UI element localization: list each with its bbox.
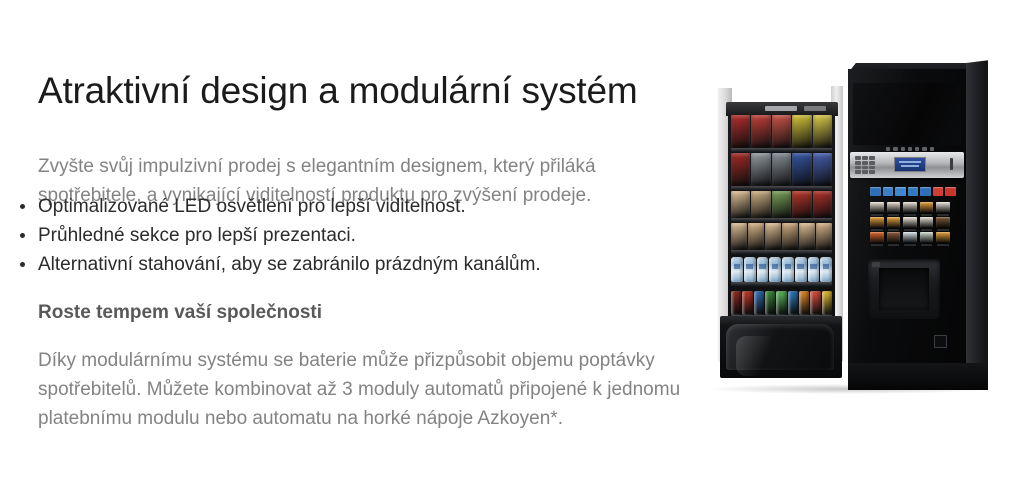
vending-machines-photo (700, 50, 1010, 410)
machine-lower-cabinet (720, 316, 842, 378)
drink-selection-button[interactable] (870, 217, 884, 228)
drink-selection-button[interactable] (920, 232, 934, 243)
product-pack (748, 223, 764, 250)
cup-dispenser-recess (868, 259, 940, 319)
dispenser-opening (879, 268, 929, 310)
shelf-goods (731, 223, 832, 250)
product-can (799, 291, 809, 315)
product-bottle (795, 257, 807, 282)
upper-black-panel (853, 83, 961, 145)
delivery-bin-door (726, 324, 834, 370)
product-pack (792, 153, 811, 186)
control-panel (850, 152, 964, 178)
numeric-keypad[interactable] (855, 156, 875, 174)
glass-display-window (728, 115, 835, 320)
product-bottle (769, 257, 781, 282)
product-pack (731, 153, 750, 186)
product-bottle (744, 257, 756, 282)
drink-selection-button[interactable] (887, 202, 901, 213)
body-paragraph: Díky modulárnímu systému se baterie může… (38, 346, 683, 433)
floor-shadow (708, 384, 988, 394)
drink-selection-button[interactable] (870, 202, 884, 213)
list-item: Průhledné sekce pro lepší prezentaci. (0, 221, 660, 250)
list-item: Alternativní stahování, aby se zabránilo… (0, 250, 660, 279)
panel-vent-strip (886, 147, 934, 151)
product-pack (731, 191, 750, 218)
product-can (754, 291, 764, 315)
product-pack (772, 115, 791, 148)
product-pack (731, 115, 750, 148)
hot-drinks-vending-machine (848, 63, 990, 390)
shelf-goods (731, 191, 832, 218)
brand-model-mark (804, 106, 826, 111)
product-can (788, 291, 798, 315)
bullet-dot-icon (20, 233, 25, 238)
product-bottle (757, 257, 769, 282)
product-pack (731, 223, 747, 250)
product-bottle (808, 257, 820, 282)
product-bottle (731, 257, 743, 282)
top-selection-button-strip[interactable] (870, 187, 956, 196)
drink-selection-button[interactable] (920, 202, 934, 213)
product-pack (751, 153, 770, 186)
shelf-snacks-top (731, 115, 832, 153)
page-title: Atraktivní design a modulární systém (38, 69, 637, 113)
drink-selection-button[interactable] (903, 202, 917, 213)
product-pack (751, 115, 770, 148)
coin-slot[interactable] (950, 158, 953, 170)
bullet-dot-icon (20, 204, 25, 209)
drink-selection-button[interactable] (887, 217, 901, 228)
snack-vending-machine (718, 78, 848, 388)
section-subheading: Roste tempem vaší společnosti (38, 298, 322, 327)
product-can (731, 291, 741, 315)
product-pack (813, 191, 832, 218)
product-pack (772, 191, 791, 218)
product-pack (799, 223, 815, 250)
machine-front-face (848, 69, 966, 387)
product-pack (751, 191, 770, 218)
shelf-sandwiches (731, 191, 832, 223)
product-bottle (782, 257, 794, 282)
product-pack (816, 223, 832, 250)
product-can (810, 291, 820, 315)
product-pack (792, 115, 811, 148)
product-can (822, 291, 832, 315)
drink-selection-button[interactable] (903, 217, 917, 228)
list-item-label: Optimalizované LED osvětlení pro lepší v… (38, 196, 466, 217)
drink-selection-button[interactable] (887, 232, 901, 243)
product-pack (813, 153, 832, 186)
product-pack (782, 223, 798, 250)
brand-logo (765, 106, 797, 111)
shelf-goods (731, 115, 832, 148)
list-item-label: Průhledné sekce pro lepší prezentaci. (38, 225, 356, 246)
drink-selection-button[interactable] (903, 232, 917, 243)
card-reader[interactable] (934, 335, 947, 348)
drink-selection-button[interactable] (936, 202, 950, 213)
drink-selection-button[interactable] (920, 217, 934, 228)
shelf-baguettes (731, 223, 832, 255)
drink-selection-button[interactable] (936, 217, 950, 228)
shelf-goods (731, 287, 832, 315)
list-item: Optimalizované LED osvětlení pro lepší v… (0, 192, 660, 221)
gloss-highlight (736, 336, 776, 376)
feature-bullet-list: Optimalizované LED osvětlení pro lepší v… (0, 192, 660, 279)
list-item-label: Alternativní stahování, aby se zabránilo… (38, 254, 541, 275)
text-column: Atraktivní design a modulární systém Zvy… (0, 0, 700, 502)
drink-selection-button[interactable] (870, 232, 884, 243)
shelf-snacks-second (731, 153, 832, 191)
product-bottle (820, 257, 832, 282)
bullet-dot-icon (20, 262, 25, 267)
drink-selection-button-grid[interactable] (870, 202, 950, 243)
product-can (742, 291, 752, 315)
machine-side-face (966, 60, 988, 375)
product-pack (772, 153, 791, 186)
product-pack (813, 115, 832, 148)
product-pack (765, 223, 781, 250)
lcd-display (894, 157, 926, 172)
product-can (765, 291, 775, 315)
page-root: Atraktivní design a modulární systém Zvy… (0, 0, 1036, 502)
shelf-goods (731, 255, 832, 282)
dispenser-lip (872, 262, 880, 267)
shelf-goods (731, 153, 832, 186)
shelf-water-bottles (731, 255, 832, 287)
product-can (776, 291, 786, 315)
drink-selection-button[interactable] (936, 232, 950, 243)
product-pack (792, 191, 811, 218)
photo-stage (700, 50, 1010, 410)
